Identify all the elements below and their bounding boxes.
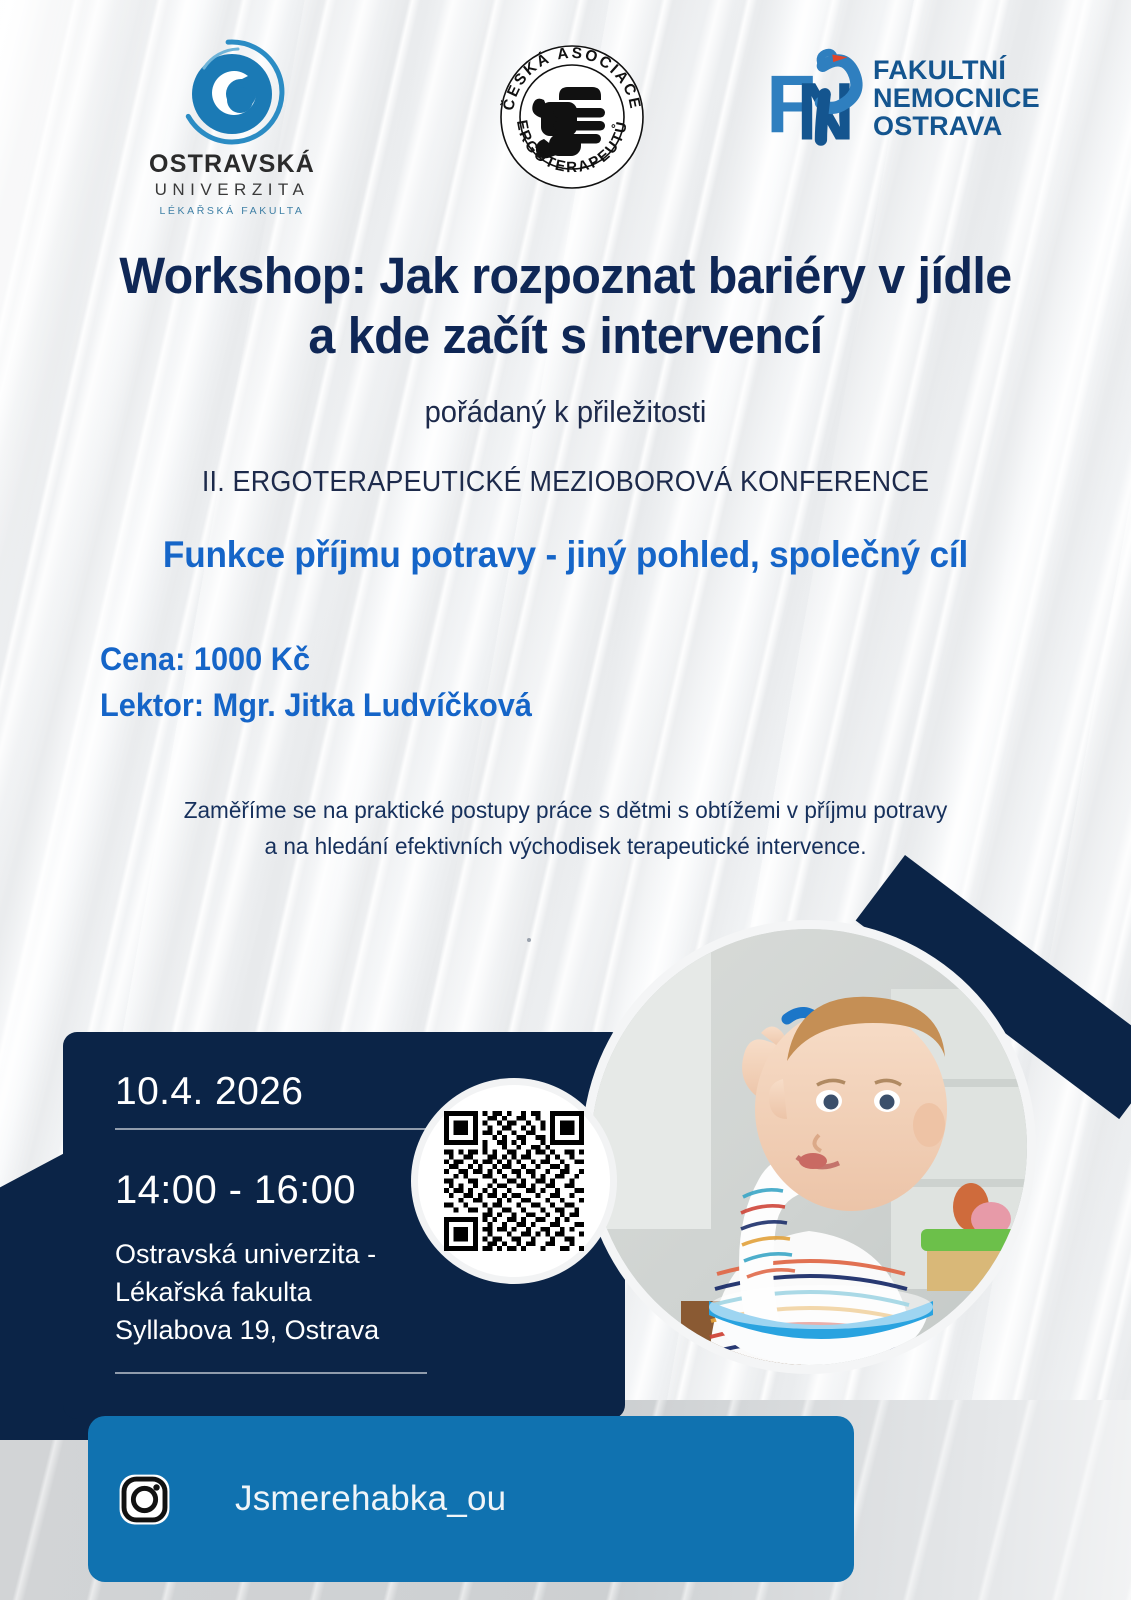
fno-line2: NEMOCNICE	[873, 84, 1040, 112]
venue-line-1: Ostravská univerzita -	[115, 1236, 495, 1274]
logo-row: OSTRAVSKÁ UNIVERZITA LÉKAŘSKÁ FAKULTA	[0, 0, 1131, 210]
fno-line1: FAKULTNÍ	[873, 56, 1040, 84]
title-line-2: a kde začít s intervencí	[28, 306, 1102, 366]
card-divider-2	[115, 1372, 427, 1374]
title-line-1: Workshop: Jak rozpoznat bariéry v jídle	[28, 246, 1102, 306]
price-line: Cena: 1000 Kč	[100, 636, 532, 682]
description-text: Zaměříme se na praktické postupy práce s…	[80, 792, 1051, 865]
event-venue: Ostravská univerzita - Lékařská fakulta …	[115, 1236, 495, 1349]
logo-ou-line1: OSTRAVSKÁ	[132, 152, 332, 177]
toddler-eating-photo	[591, 929, 1027, 1365]
occasion-text: pořádaný k přiležitosti	[34, 394, 1097, 430]
logo-ou-line2: UNIVERZITA	[132, 179, 332, 202]
spiral-wave-circle-icon	[178, 38, 286, 146]
photo-illustration	[591, 929, 1027, 1365]
fno-line3: OSTRAVA	[873, 112, 1040, 140]
logo-ou-line3: LÉKAŘSKÁ FAKULTA	[132, 205, 332, 217]
venue-line-2: Lékařská fakulta	[115, 1274, 495, 1312]
instagram-icon[interactable]	[116, 1471, 173, 1528]
logo-ceska-asociace-ergoterapeutu: ČESKÁ ASOCIACE ERGOTERAPEUTŮ	[497, 42, 647, 192]
fno-swan-monogram-icon: F N	[768, 40, 872, 156]
decorative-dot	[527, 938, 531, 942]
qr-code-badge[interactable]	[418, 1085, 610, 1277]
description-line-1: Zaměříme se na praktické postupy práce s…	[80, 792, 1051, 828]
poster-root: OSTRAVSKÁ UNIVERZITA LÉKAŘSKÁ FAKULTA	[0, 0, 1131, 1600]
instagram-bar[interactable]: Jsmerehabka_ou	[88, 1416, 854, 1582]
venue-line-3: Syllabova 19, Ostrava	[115, 1312, 495, 1350]
conference-name: Funkce příjmu potravy - jiný pohled, spo…	[28, 534, 1102, 576]
conference-label: II. ERGOTERAPEUTICKÉ MEZIOBOROVÁ KONFERE…	[40, 466, 1092, 499]
card-divider-1	[115, 1128, 427, 1130]
instagram-handle[interactable]: Jsmerehabka_ou	[235, 1479, 506, 1519]
lector-line: Lektor: Mgr. Jitka Ludvíčková	[100, 682, 532, 728]
logo-ostravska-univerzita: OSTRAVSKÁ UNIVERZITA LÉKAŘSKÁ FAKULTA	[132, 38, 332, 217]
event-date: 10.4. 2026	[115, 1072, 495, 1111]
details-block: Cena: 1000 Kč Lektor: Mgr. Jitka Ludvíčk…	[100, 636, 550, 729]
qr-code-icon[interactable]	[444, 1111, 584, 1251]
hand-seal-icon: ČESKÁ ASOCIACE ERGOTERAPEUTŮ	[497, 42, 647, 192]
logo-fakultni-nemocnice-ostrava: F N FAKULTNÍ NEMOCNICE OSTRAVA	[768, 40, 1068, 160]
fno-wordmark: FAKULTNÍ NEMOCNICE OSTRAVA	[873, 56, 1040, 140]
page-title: Workshop: Jak rozpoznat bariéry v jídle …	[28, 246, 1102, 366]
description-line-2: a na hledání efektivních východisek tera…	[80, 828, 1051, 864]
